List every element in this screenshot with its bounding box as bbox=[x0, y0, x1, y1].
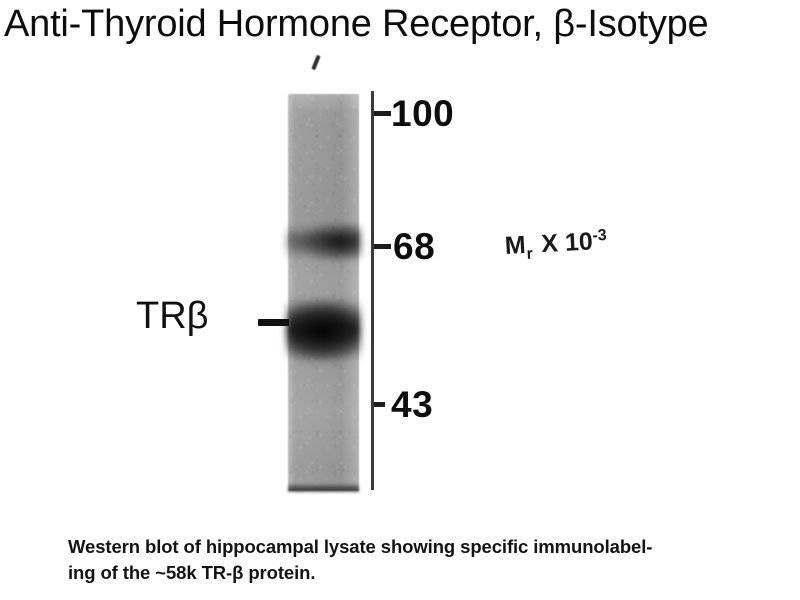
axis-units-label: Mr X 10-3 bbox=[504, 227, 608, 265]
western-blot-figure: Anti-Thyroid Hormone Receptor, β-Isotype… bbox=[0, 0, 800, 600]
molecular-weight-axis-line bbox=[371, 91, 374, 490]
mw-tick-68 bbox=[374, 244, 391, 249]
mw-tick-100 bbox=[374, 111, 391, 116]
axis-units-base: M bbox=[504, 231, 526, 260]
axis-units-multiplier: X 10 bbox=[541, 227, 594, 258]
mw-label-43: 43 bbox=[391, 386, 433, 423]
band-pointer-dash bbox=[258, 319, 289, 326]
lane-bottom-edge bbox=[288, 483, 359, 492]
lane-film-grain bbox=[288, 94, 359, 491]
mw-label-100: 100 bbox=[391, 95, 454, 132]
caption-line-2: ing of the ~58k TR-β protein. bbox=[68, 560, 800, 586]
blot-band-58kda bbox=[286, 299, 361, 361]
band-annotation-label: TRβ bbox=[136, 297, 209, 335]
mw-tick-43 bbox=[374, 402, 385, 407]
axis-units-exponent: -3 bbox=[592, 227, 607, 245]
caption-line-1: Western blot of hippocampal lysate showi… bbox=[68, 534, 800, 560]
blot-lane bbox=[288, 94, 359, 491]
blot-band-68kda bbox=[286, 224, 361, 260]
film-artifact-mark bbox=[311, 55, 320, 70]
figure-caption: Western blot of hippocampal lysate showi… bbox=[68, 534, 800, 586]
page-title: Anti-Thyroid Hormone Receptor, β-Isotype bbox=[4, 2, 708, 46]
mw-label-68: 68 bbox=[393, 228, 435, 265]
